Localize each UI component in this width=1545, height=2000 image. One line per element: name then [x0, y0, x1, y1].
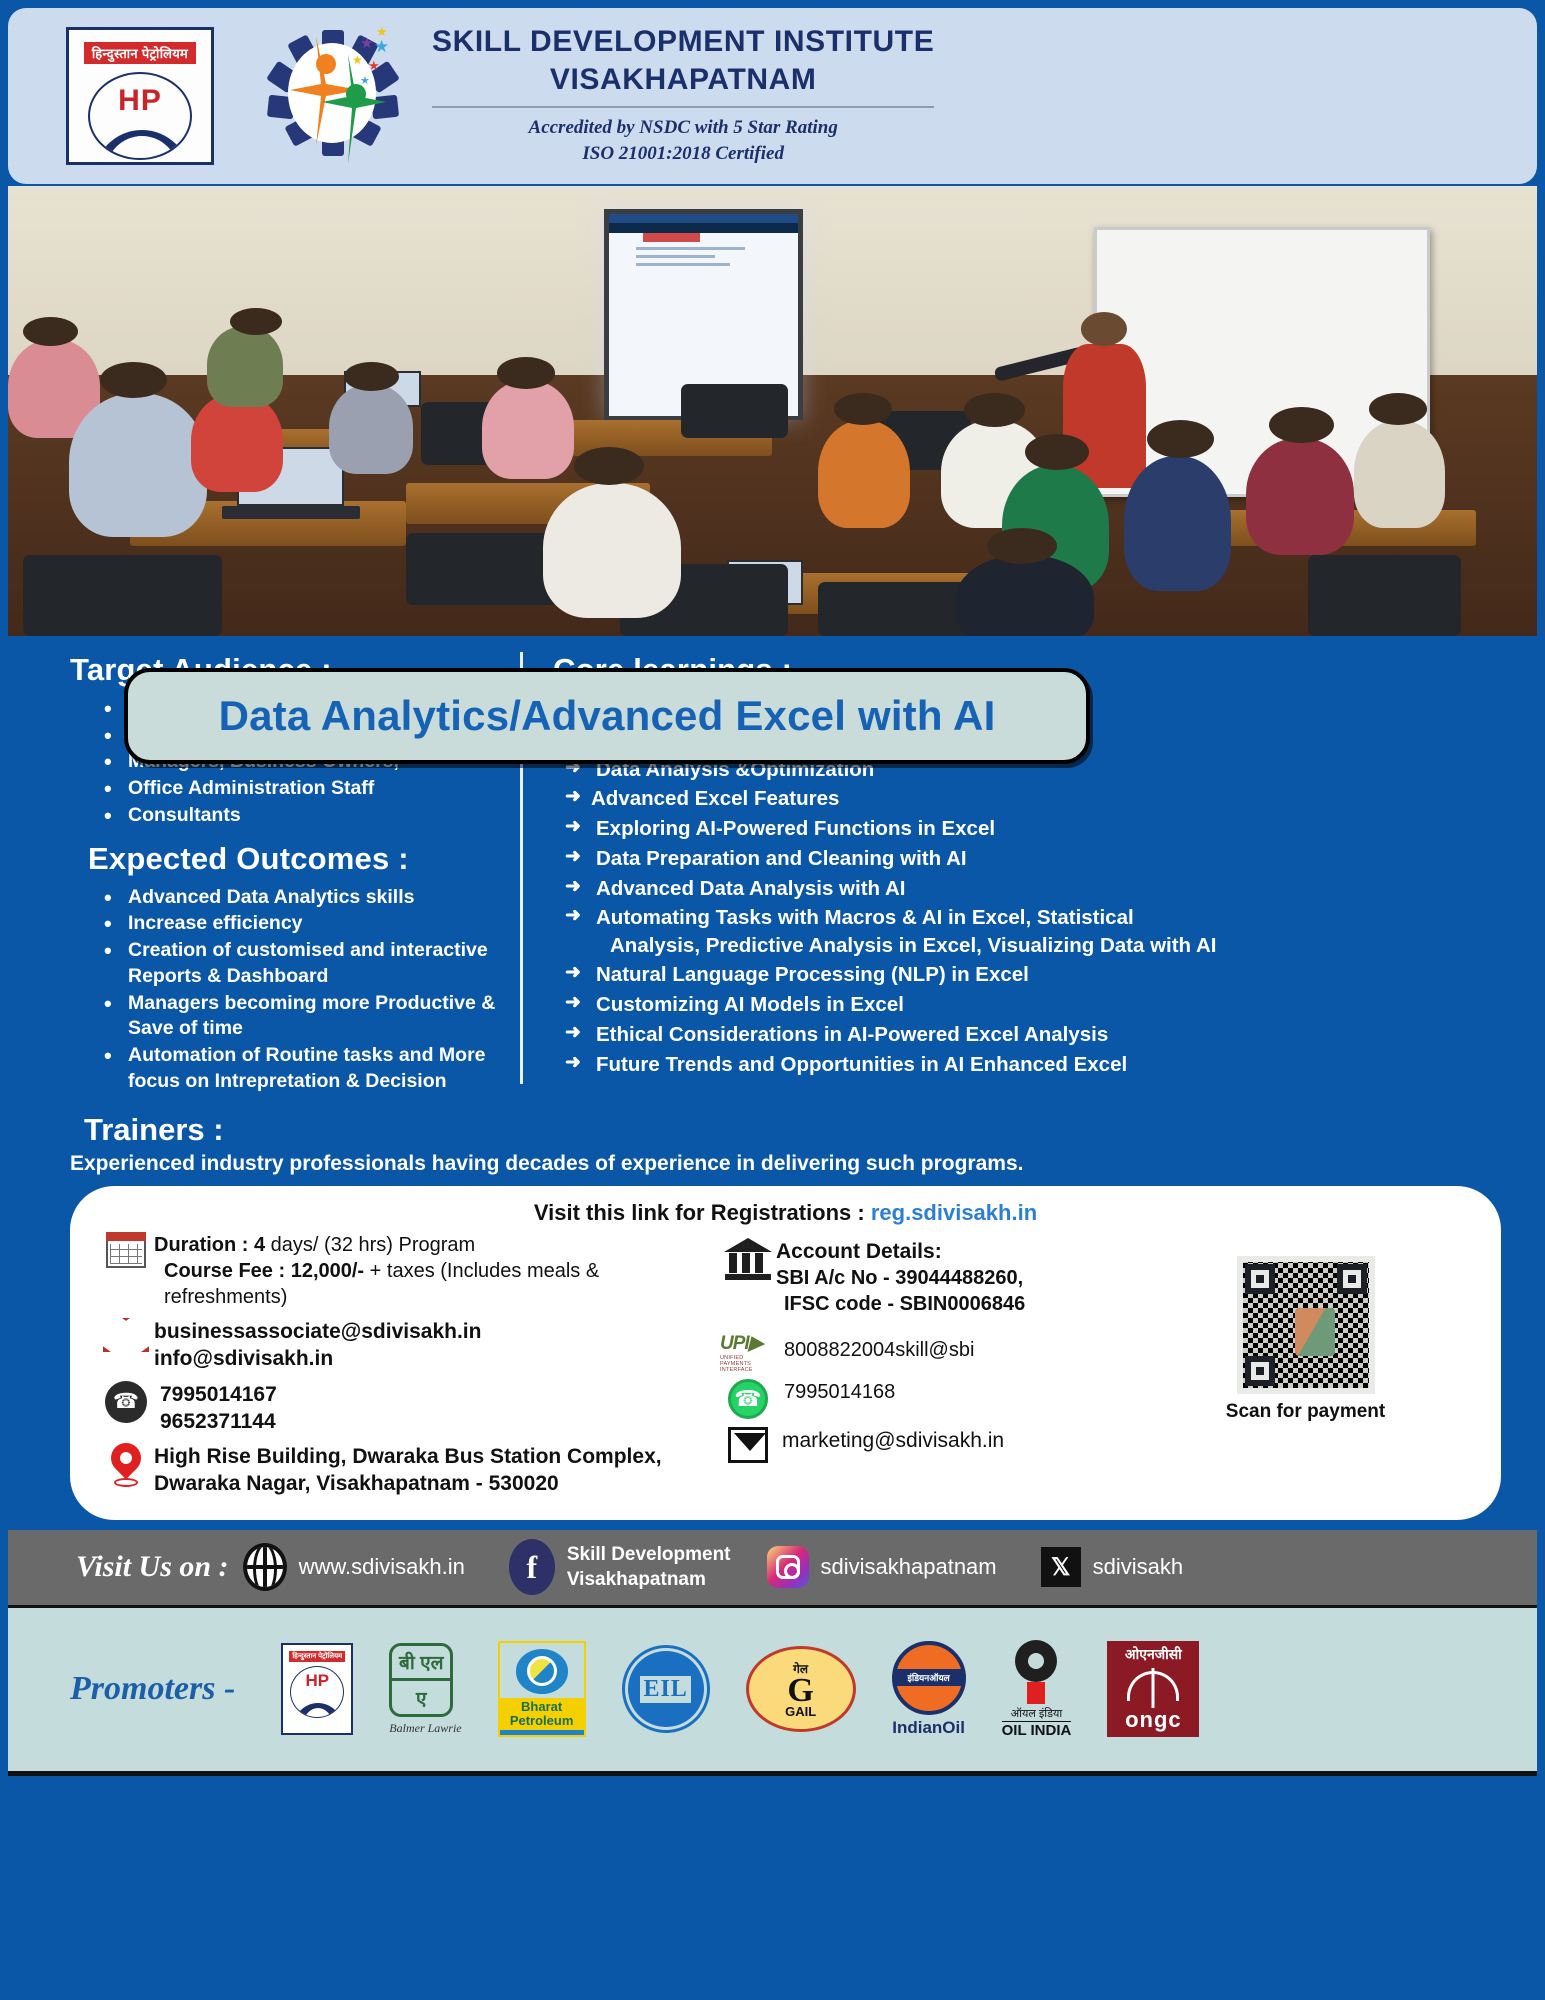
- accreditation-text: Accredited by NSDC with 5 Star Rating: [432, 115, 934, 141]
- social-bar: Visit Us on : www.sdivisakh.in f Skill D…: [8, 1530, 1537, 1608]
- hp-hindi-small: हिन्दुस्तान पेट्रोलियम: [289, 1651, 345, 1662]
- website-url[interactable]: www.sdivisakh.in: [299, 1554, 465, 1580]
- list-item: Data Preparation and Cleaning with AI: [565, 845, 1537, 872]
- bottom-strip: [8, 1776, 1537, 1800]
- svg-text:★: ★: [360, 75, 370, 87]
- whatsapp-number[interactable]: 7995014168: [776, 1377, 895, 1405]
- svg-text:★: ★: [368, 58, 380, 73]
- indianoil-caption: IndianOil: [892, 1718, 966, 1738]
- promoter-logo-eil: EIL: [622, 1645, 710, 1733]
- marketing-email-row: marketing@sdivisakh.in: [720, 1425, 1130, 1463]
- phone-icon: ☎: [98, 1379, 154, 1423]
- visit-us-label: Visit Us on :: [76, 1550, 229, 1584]
- x-twitter-icon[interactable]: 𝕏: [1041, 1547, 1081, 1587]
- qr-column: Scan for payment: [1130, 1230, 1481, 1504]
- promoter-logo-ongc: ओएनजीसी ongc: [1107, 1641, 1199, 1737]
- oilindia-caption: OIL INDIA: [1002, 1721, 1072, 1739]
- classroom-photo: [8, 186, 1537, 636]
- duration-row: Duration : 4 days/ (32 hrs) Program Cour…: [98, 1230, 710, 1310]
- bank-icon: [720, 1236, 776, 1280]
- oilindia-hindi: ऑयल इंडिया: [1002, 1706, 1072, 1721]
- sdi-emblem-icon: ★ ★ ★ ★ ★ ★: [256, 18, 406, 175]
- registration-line: Visit this link for Registrations : reg.…: [90, 1200, 1481, 1226]
- list-item: Consultants: [104, 803, 518, 829]
- header-text-block: SKILL DEVELOPMENT INSTITUTE VISAKHAPATNA…: [432, 25, 934, 166]
- promoter-logo-hp: हिन्दुस्तान पेट्रोलियम HP: [281, 1643, 353, 1735]
- promoter-logo-balmer-lawrie: बी एल ए Balmer Lawrie: [389, 1643, 461, 1736]
- hp-logo: हिन्दुस्तान पेट्रोलियम HP: [66, 27, 214, 165]
- ifsc-code: IFSC code - SBIN0006846: [776, 1291, 1025, 1317]
- payment-details-column: Account Details: SBI A/c No - 3904448826…: [710, 1230, 1130, 1504]
- globe-icon: [243, 1543, 287, 1591]
- ongc-caption: ongc: [1125, 1707, 1182, 1733]
- email-primary[interactable]: businessassociate@sdivisakh.in: [154, 1318, 481, 1345]
- duration-label: Duration : 4: [154, 1234, 265, 1256]
- gail-caption: GAIL: [785, 1704, 816, 1719]
- hp-hindi-text: हिन्दुस्तान पेट्रोलियम: [84, 42, 196, 64]
- upi-id: 8008822004skill@sbi: [776, 1335, 974, 1363]
- expected-outcomes-list: Advanced Data Analytics skills Increase …: [104, 885, 518, 1095]
- contact-left-column: Duration : 4 days/ (32 hrs) Program Cour…: [90, 1230, 710, 1504]
- list-item: Future Trends and Opportunities in AI En…: [565, 1051, 1537, 1078]
- marketing-email[interactable]: marketing@sdivisakh.in: [776, 1425, 1004, 1454]
- svg-text:★: ★: [360, 35, 373, 52]
- duration-fee-text: Duration : 4 days/ (32 hrs) Program Cour…: [154, 1230, 710, 1310]
- address-line-1: High Rise Building, Dwaraka Bus Station …: [154, 1443, 662, 1470]
- list-item: Automating Tasks with Macros & AI in Exc…: [565, 904, 1537, 959]
- course-title-text: Data Analytics/Advanced Excel with AI: [219, 692, 996, 740]
- facebook-line-2: Visakhapatnam: [567, 1567, 731, 1593]
- promoter-logo-indianoil: इंडियनऑयल IndianOil: [892, 1641, 966, 1738]
- facebook-handle[interactable]: Skill Development Visakhapatnam: [567, 1542, 731, 1593]
- whatsapp-icon: ☎: [720, 1377, 776, 1419]
- poster-root: हिन्दुस्तान पेट्रोलियम HP: [0, 0, 1545, 2000]
- contact-card: Visit this link for Registrations : reg.…: [70, 1186, 1501, 1520]
- svg-text:★: ★: [374, 37, 389, 56]
- list-item: Advanced Excel Features: [565, 785, 1537, 812]
- twitter-handle[interactable]: sdivisakh: [1093, 1554, 1183, 1580]
- balmer-caption: Balmer Lawrie: [389, 1721, 461, 1736]
- list-item: Office Administration Staff: [104, 776, 518, 802]
- registration-label: Visit this link for Registrations :: [534, 1200, 871, 1225]
- payment-qr-code[interactable]: [1237, 1256, 1375, 1394]
- phone-secondary[interactable]: 9652371144: [154, 1408, 277, 1435]
- ongc-hindi: ओएनजीसी: [1125, 1645, 1182, 1664]
- bank-row: Account Details: SBI A/c No - 3904448826…: [720, 1236, 1130, 1317]
- address-row: High Rise Building, Dwaraka Bus Station …: [98, 1441, 710, 1498]
- svg-text:★: ★: [352, 53, 363, 67]
- trainers-section: Trainers : Experienced industry professi…: [8, 1106, 1537, 1176]
- institute-name-line2: VISAKHAPATNAM: [432, 63, 934, 97]
- list-item: Advanced Data Analytics skills: [104, 885, 518, 911]
- institute-name-line1: SKILL DEVELOPMENT INSTITUTE: [432, 25, 934, 59]
- location-pin-icon: [98, 1441, 154, 1487]
- list-item: Natural Language Processing (NLP) in Exc…: [565, 961, 1537, 988]
- fee-label: Course Fee : 12,000/-: [164, 1260, 364, 1282]
- bpcl-caption: BharatPetroleum: [500, 1698, 584, 1731]
- facebook-icon[interactable]: f: [509, 1539, 555, 1595]
- expected-outcomes-heading: Expected Outcomes :: [88, 841, 518, 877]
- eil-caption: EIL: [640, 1676, 690, 1703]
- calendar-icon: [98, 1230, 154, 1268]
- hp-oval-mark: HP: [88, 72, 192, 160]
- list-item: Automation of Routine tasks and More foc…: [104, 1043, 518, 1094]
- promoter-logo-gail: गेल G GAIL: [746, 1646, 856, 1732]
- poster-header: हिन्दुस्तान पेट्रोलियम HP: [8, 8, 1537, 184]
- phone-primary[interactable]: 7995014167: [154, 1381, 277, 1408]
- phone-row: ☎ 7995014167 9652371144: [98, 1379, 710, 1436]
- qr-caption: Scan for payment: [1130, 1401, 1481, 1423]
- hp-mark-small: HP: [291, 1671, 343, 1691]
- mail-download-icon: [720, 1425, 776, 1463]
- instagram-icon[interactable]: [767, 1546, 809, 1588]
- promoter-logo-bharat-petroleum: BharatPetroleum: [498, 1641, 586, 1737]
- whatsapp-row: ☎ 7995014168: [720, 1377, 1130, 1419]
- email-secondary[interactable]: info@sdivisakh.in: [154, 1345, 481, 1372]
- header-divider: [432, 106, 934, 108]
- trainers-description: Experienced industry professionals havin…: [70, 1152, 1537, 1176]
- upi-icon: UPI▶UNIFIED PAYMENTS INTERFACE: [720, 1335, 776, 1367]
- indianoil-hindi: इंडियनऑयल: [896, 1669, 962, 1686]
- list-item: Ethical Considerations in AI-Powered Exc…: [565, 1021, 1537, 1048]
- balmer-glyph-bottom: ए: [392, 1681, 450, 1714]
- account-number: SBI A/c No - 39044488260,: [776, 1265, 1025, 1291]
- account-details-heading: Account Details:: [776, 1238, 1025, 1265]
- email-row: businessassociate@sdivisakh.in info@sdiv…: [98, 1316, 710, 1373]
- list-item: Customizing AI Models in Excel: [565, 991, 1537, 1018]
- list-item-continuation: Analysis, Predictive Analysis in Excel, …: [596, 932, 1537, 959]
- list-item: Increase efficiency: [104, 911, 518, 937]
- list-item: Managers becoming more Productive & Save…: [104, 991, 518, 1042]
- promoter-logo-oil-india: ऑयल इंडिया OIL INDIA: [1002, 1640, 1072, 1739]
- duration-rest: days/ (32 hrs) Program: [265, 1234, 475, 1256]
- upi-row: UPI▶UNIFIED PAYMENTS INTERFACE 800882200…: [720, 1335, 1130, 1367]
- course-title-banner: Data Analytics/Advanced Excel with AI: [124, 668, 1090, 764]
- instagram-handle[interactable]: sdivisakhapatnam: [821, 1554, 997, 1580]
- promoters-bar: Promoters - हिन्दुस्तान पेट्रोलियम HP बी…: [8, 1608, 1537, 1776]
- list-item: Exploring AI-Powered Functions in Excel: [565, 815, 1537, 842]
- list-item-main: Automating Tasks with Macros & AI in Exc…: [596, 906, 1134, 929]
- list-item: Advanced Data Analysis with AI: [565, 875, 1537, 902]
- registration-link[interactable]: reg.sdivisakh.in: [871, 1200, 1037, 1225]
- promoters-label: Promoters -: [70, 1670, 235, 1708]
- facebook-line-1: Skill Development: [567, 1542, 731, 1568]
- iso-certification-text: ISO 21001:2018 Certified: [432, 141, 934, 167]
- hp-mark-text: HP: [118, 84, 162, 118]
- list-item: Creation of customised and interactive R…: [104, 938, 518, 989]
- balmer-glyph-top: बी एल: [392, 1646, 450, 1682]
- trainers-heading: Trainers :: [84, 1112, 1537, 1148]
- envelope-icon: [98, 1316, 154, 1352]
- address-line-2: Dwaraka Nagar, Visakhapatnam - 530020: [154, 1470, 662, 1497]
